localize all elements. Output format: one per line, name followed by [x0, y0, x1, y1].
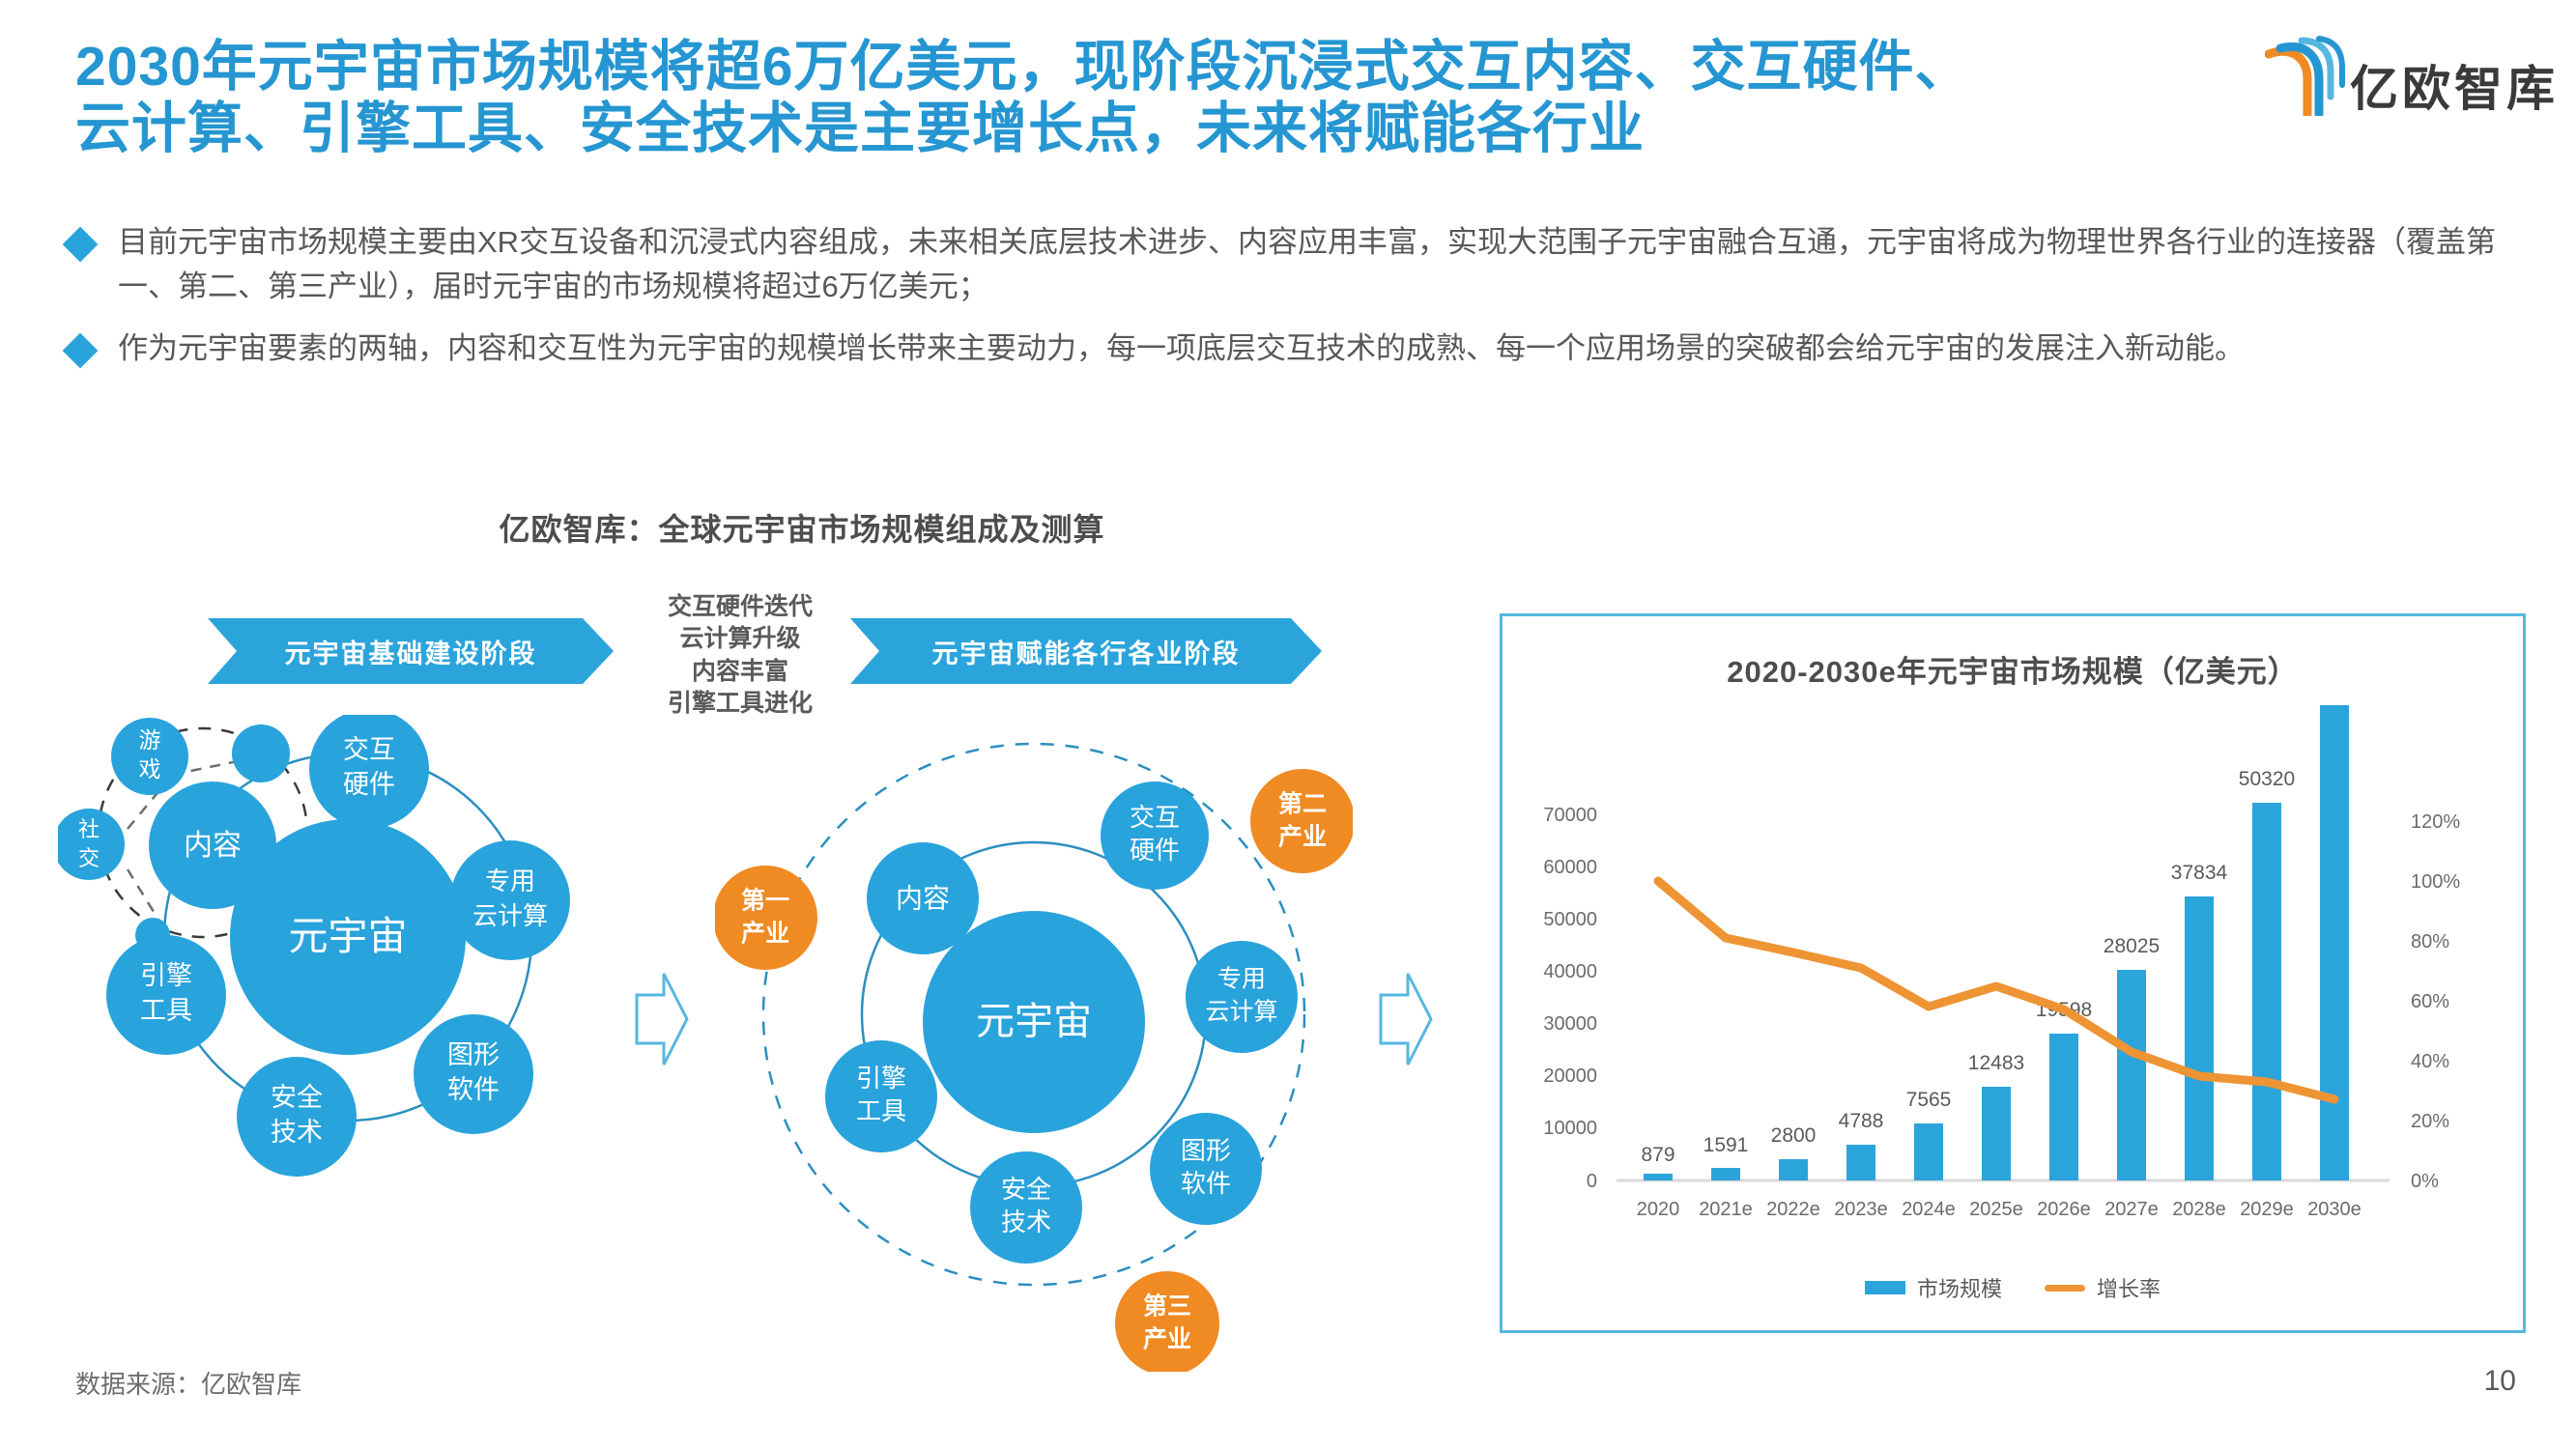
- svg-text:硬件: 硬件: [1130, 836, 1180, 865]
- page-header: 2030年元宇宙市场规模将超6万亿美元，现阶段沉浸式交互内容、交互硬件、 云计算…: [0, 0, 2576, 193]
- svg-text:专用: 专用: [485, 867, 535, 895]
- svg-text:40000: 40000: [1543, 961, 1597, 982]
- svg-text:软件: 软件: [1181, 1169, 1231, 1198]
- bar-2023e: [1846, 1145, 1875, 1180]
- svg-text:产业: 产业: [1143, 1326, 1191, 1353]
- svg-text:80%: 80%: [2411, 931, 2449, 952]
- svg-text:2024e: 2024e: [1902, 1199, 1956, 1220]
- svg-text:1591: 1591: [1703, 1134, 1749, 1156]
- svg-text:第三: 第三: [1143, 1293, 1191, 1321]
- svg-text:50000: 50000: [1543, 909, 1597, 930]
- brand-logo: 亿欧智库: [2265, 29, 2555, 118]
- bubble-graphics-software: [414, 1014, 533, 1134]
- svg-text:第二: 第二: [1278, 790, 1327, 818]
- diagram-metaverse-construction: 元宇宙 内容 交互 硬件 专用 云计算 图形 软件 安全 技术 引擎 工具 游 …: [58, 715, 657, 1333]
- chart-plot: 0 10000 20000 30000 40000 50000 60000 70…: [1503, 705, 2523, 1246]
- svg-text:2020: 2020: [1637, 1199, 1680, 1220]
- legend-item-growth-rate: 增长率: [2045, 1272, 2161, 1303]
- bar-2028e: [2185, 896, 2214, 1180]
- page-number: 10: [2484, 1365, 2516, 1398]
- svg-text:28025: 28025: [2104, 935, 2160, 957]
- svg-text:元宇宙: 元宇宙: [289, 914, 408, 958]
- bullet-list: 目前元宇宙市场规模主要由XR交互设备和沉浸式内容组成，未来相关底层技术进步、内容…: [68, 220, 2522, 388]
- svg-text:2028e: 2028e: [2172, 1199, 2226, 1220]
- svg-text:软件: 软件: [447, 1075, 500, 1104]
- bar-2027e: [2117, 970, 2146, 1180]
- svg-text:工具: 工具: [856, 1096, 906, 1125]
- svg-text:硬件: 硬件: [343, 770, 395, 799]
- svg-text:产业: 产业: [741, 921, 789, 948]
- svg-text:60000: 60000: [1543, 857, 1597, 878]
- bar-2029e: [2252, 803, 2281, 1180]
- svg-text:40%: 40%: [2411, 1051, 2449, 1072]
- chart-legend: 市场规模 增长率: [1503, 1272, 2523, 1303]
- svg-text:100%: 100%: [2411, 871, 2460, 893]
- transition-line-2: 云计算升级: [638, 623, 843, 655]
- bullet-text: 目前元宇宙市场规模主要由XR交互设备和沉浸式内容组成，未来相关底层技术进步、内容…: [118, 220, 2522, 309]
- svg-text:2027e: 2027e: [2104, 1199, 2159, 1220]
- svg-text:引擎: 引擎: [856, 1064, 906, 1093]
- svg-text:2021e: 2021e: [1699, 1199, 1753, 1220]
- bar-2021e: [1711, 1168, 1740, 1180]
- svg-text:2029e: 2029e: [2240, 1199, 2294, 1220]
- title-line-2: 云计算、引擎工具、安全技术是主要增长点，未来将赋能各行业: [75, 99, 2259, 160]
- diagram-metaverse-empowerment: 元宇宙 内容 交互 硬件 专用 云计算 图形 软件 安全 技术 引擎 工具 第一…: [715, 715, 1353, 1372]
- bubble-industry-primary: [715, 866, 817, 970]
- svg-text:云计算: 云计算: [472, 901, 548, 930]
- page-title: 2030年元宇宙市场规模将超6万亿美元，现阶段沉浸式交互内容、交互硬件、 云计算…: [75, 37, 2259, 160]
- svg-text:安全: 安全: [1001, 1175, 1051, 1204]
- svg-text:工具: 工具: [140, 996, 192, 1025]
- svg-text:12483: 12483: [1968, 1052, 2024, 1074]
- svg-text:120%: 120%: [2411, 811, 2460, 833]
- svg-text:4788: 4788: [1839, 1110, 1884, 1132]
- bubble-blank-small-b: [135, 918, 170, 952]
- svg-text:20000: 20000: [1543, 1065, 1597, 1087]
- bar-2030e: [2320, 705, 2349, 1180]
- svg-text:60%: 60%: [2411, 991, 2449, 1012]
- transition-line-1: 交互硬件迭代: [638, 591, 843, 623]
- bar-2024e: [1914, 1123, 1943, 1180]
- svg-text:内容: 内容: [184, 830, 242, 862]
- bubble-industry-secondary: [1250, 769, 1353, 873]
- svg-text:社: 社: [78, 817, 100, 841]
- bar-2020: [1644, 1174, 1673, 1180]
- svg-text:70000: 70000: [1543, 805, 1597, 826]
- svg-text:图形: 图形: [447, 1040, 500, 1069]
- bar-2022e: [1779, 1159, 1808, 1180]
- svg-text:戏: 戏: [139, 756, 161, 781]
- svg-text:交: 交: [78, 846, 100, 870]
- svg-text:交互: 交互: [1130, 803, 1180, 832]
- stage-banner-empower: 元宇宙赋能各行各业阶段: [850, 618, 1322, 684]
- svg-text:2800: 2800: [1771, 1124, 1817, 1147]
- transition-text: 交互硬件迭代 云计算升级 内容丰富 引擎工具进化: [638, 591, 843, 720]
- svg-text:技术: 技术: [1001, 1207, 1051, 1236]
- svg-text:30000: 30000: [1543, 1013, 1597, 1035]
- section-header: 亿欧智库：全球元宇宙市场规模组成及测算: [0, 505, 1604, 550]
- svg-text:产业: 产业: [1278, 824, 1327, 851]
- bullet-text: 作为元宇宙要素的两轴，内容和交互性为元宇宙的规模增长带来主要动力，每一项底层交互…: [118, 327, 2245, 371]
- svg-text:20%: 20%: [2411, 1111, 2449, 1132]
- svg-text:图形: 图形: [1181, 1136, 1231, 1165]
- legend-label-market-size: 市场规模: [1917, 1272, 2002, 1303]
- data-source-note: 数据来源：亿欧智库: [75, 1365, 301, 1401]
- svg-text:2026e: 2026e: [2037, 1199, 2091, 1220]
- svg-text:专用: 专用: [1217, 966, 1266, 993]
- bubble-blank-small-a: [232, 724, 290, 782]
- svg-text:879: 879: [1641, 1144, 1674, 1166]
- arrow-right-icon-1: [633, 966, 691, 1072]
- chart-title: 2020-2030e年元宇宙市场规模（亿美元）: [1503, 647, 2523, 691]
- bubble-security-tech: [237, 1057, 357, 1177]
- bar-2025e: [1982, 1087, 2011, 1180]
- logo-text: 亿欧智库: [2350, 50, 2559, 120]
- bar-2026e: [2049, 1034, 2078, 1180]
- svg-text:2022e: 2022e: [1766, 1199, 1820, 1220]
- svg-text:10000: 10000: [1543, 1118, 1597, 1139]
- bullet-diamond-icon: [63, 227, 99, 263]
- bubble-cloud-computing: [1186, 941, 1298, 1053]
- svg-text:0%: 0%: [2411, 1171, 2439, 1192]
- svg-text:7565: 7565: [1906, 1089, 1952, 1111]
- svg-text:技术: 技术: [271, 1118, 323, 1147]
- stage-banner-1-label: 元宇宙基础建设阶段: [208, 618, 614, 684]
- svg-text:内容: 内容: [896, 883, 950, 913]
- svg-text:游: 游: [139, 727, 161, 753]
- legend-label-growth-rate: 增长率: [2097, 1272, 2161, 1303]
- bubble-industry-tertiary: [1115, 1271, 1219, 1372]
- svg-text:云计算: 云计算: [1205, 999, 1277, 1026]
- svg-text:0: 0: [1587, 1171, 1597, 1192]
- arrow-right-icon-2: [1377, 966, 1435, 1072]
- svg-text:50320: 50320: [2239, 768, 2295, 790]
- stage-banner-2-label: 元宇宙赋能各行各业阶段: [850, 618, 1322, 684]
- stage-banner-construction: 元宇宙基础建设阶段: [208, 618, 614, 684]
- svg-text:元宇宙: 元宇宙: [976, 1001, 1092, 1043]
- bullet-diamond-icon: [63, 332, 99, 368]
- legend-swatch-bar-icon: [1865, 1281, 1905, 1294]
- svg-text:交互: 交互: [343, 735, 395, 764]
- legend-swatch-line-icon: [2045, 1285, 2085, 1292]
- svg-text:2030e: 2030e: [2307, 1199, 2361, 1220]
- svg-text:引擎: 引擎: [140, 961, 192, 990]
- svg-text:安全: 安全: [271, 1083, 323, 1112]
- category-labels: 2020 2021e 2022e 2023e 2024e 2025e 2026e…: [1637, 1199, 2361, 1220]
- logo-mark-icon: [2265, 29, 2348, 116]
- legend-item-market-size: 市场规模: [1865, 1272, 2002, 1303]
- transition-line-3: 内容丰富: [638, 656, 843, 688]
- market-size-chart-card: 2020-2030e年元宇宙市场规模（亿美元） 0 10000 20000 30…: [1500, 613, 2526, 1333]
- svg-text:2023e: 2023e: [1834, 1199, 1888, 1220]
- bubble-engine-tools: [106, 935, 226, 1055]
- svg-text:37834: 37834: [2171, 862, 2228, 884]
- title-line-1: 2030年元宇宙市场规模将超6万亿美元，现阶段沉浸式交互内容、交互硬件、: [75, 37, 2259, 99]
- svg-text:2025e: 2025e: [1969, 1199, 2023, 1220]
- bullet-item: 目前元宇宙市场规模主要由XR交互设备和沉浸式内容组成，未来相关底层技术进步、内容…: [68, 220, 2522, 309]
- svg-text:第一: 第一: [741, 887, 789, 915]
- bullet-item: 作为元宇宙要素的两轴，内容和交互性为元宇宙的规模增长带来主要动力，每一项底层交互…: [68, 327, 2522, 371]
